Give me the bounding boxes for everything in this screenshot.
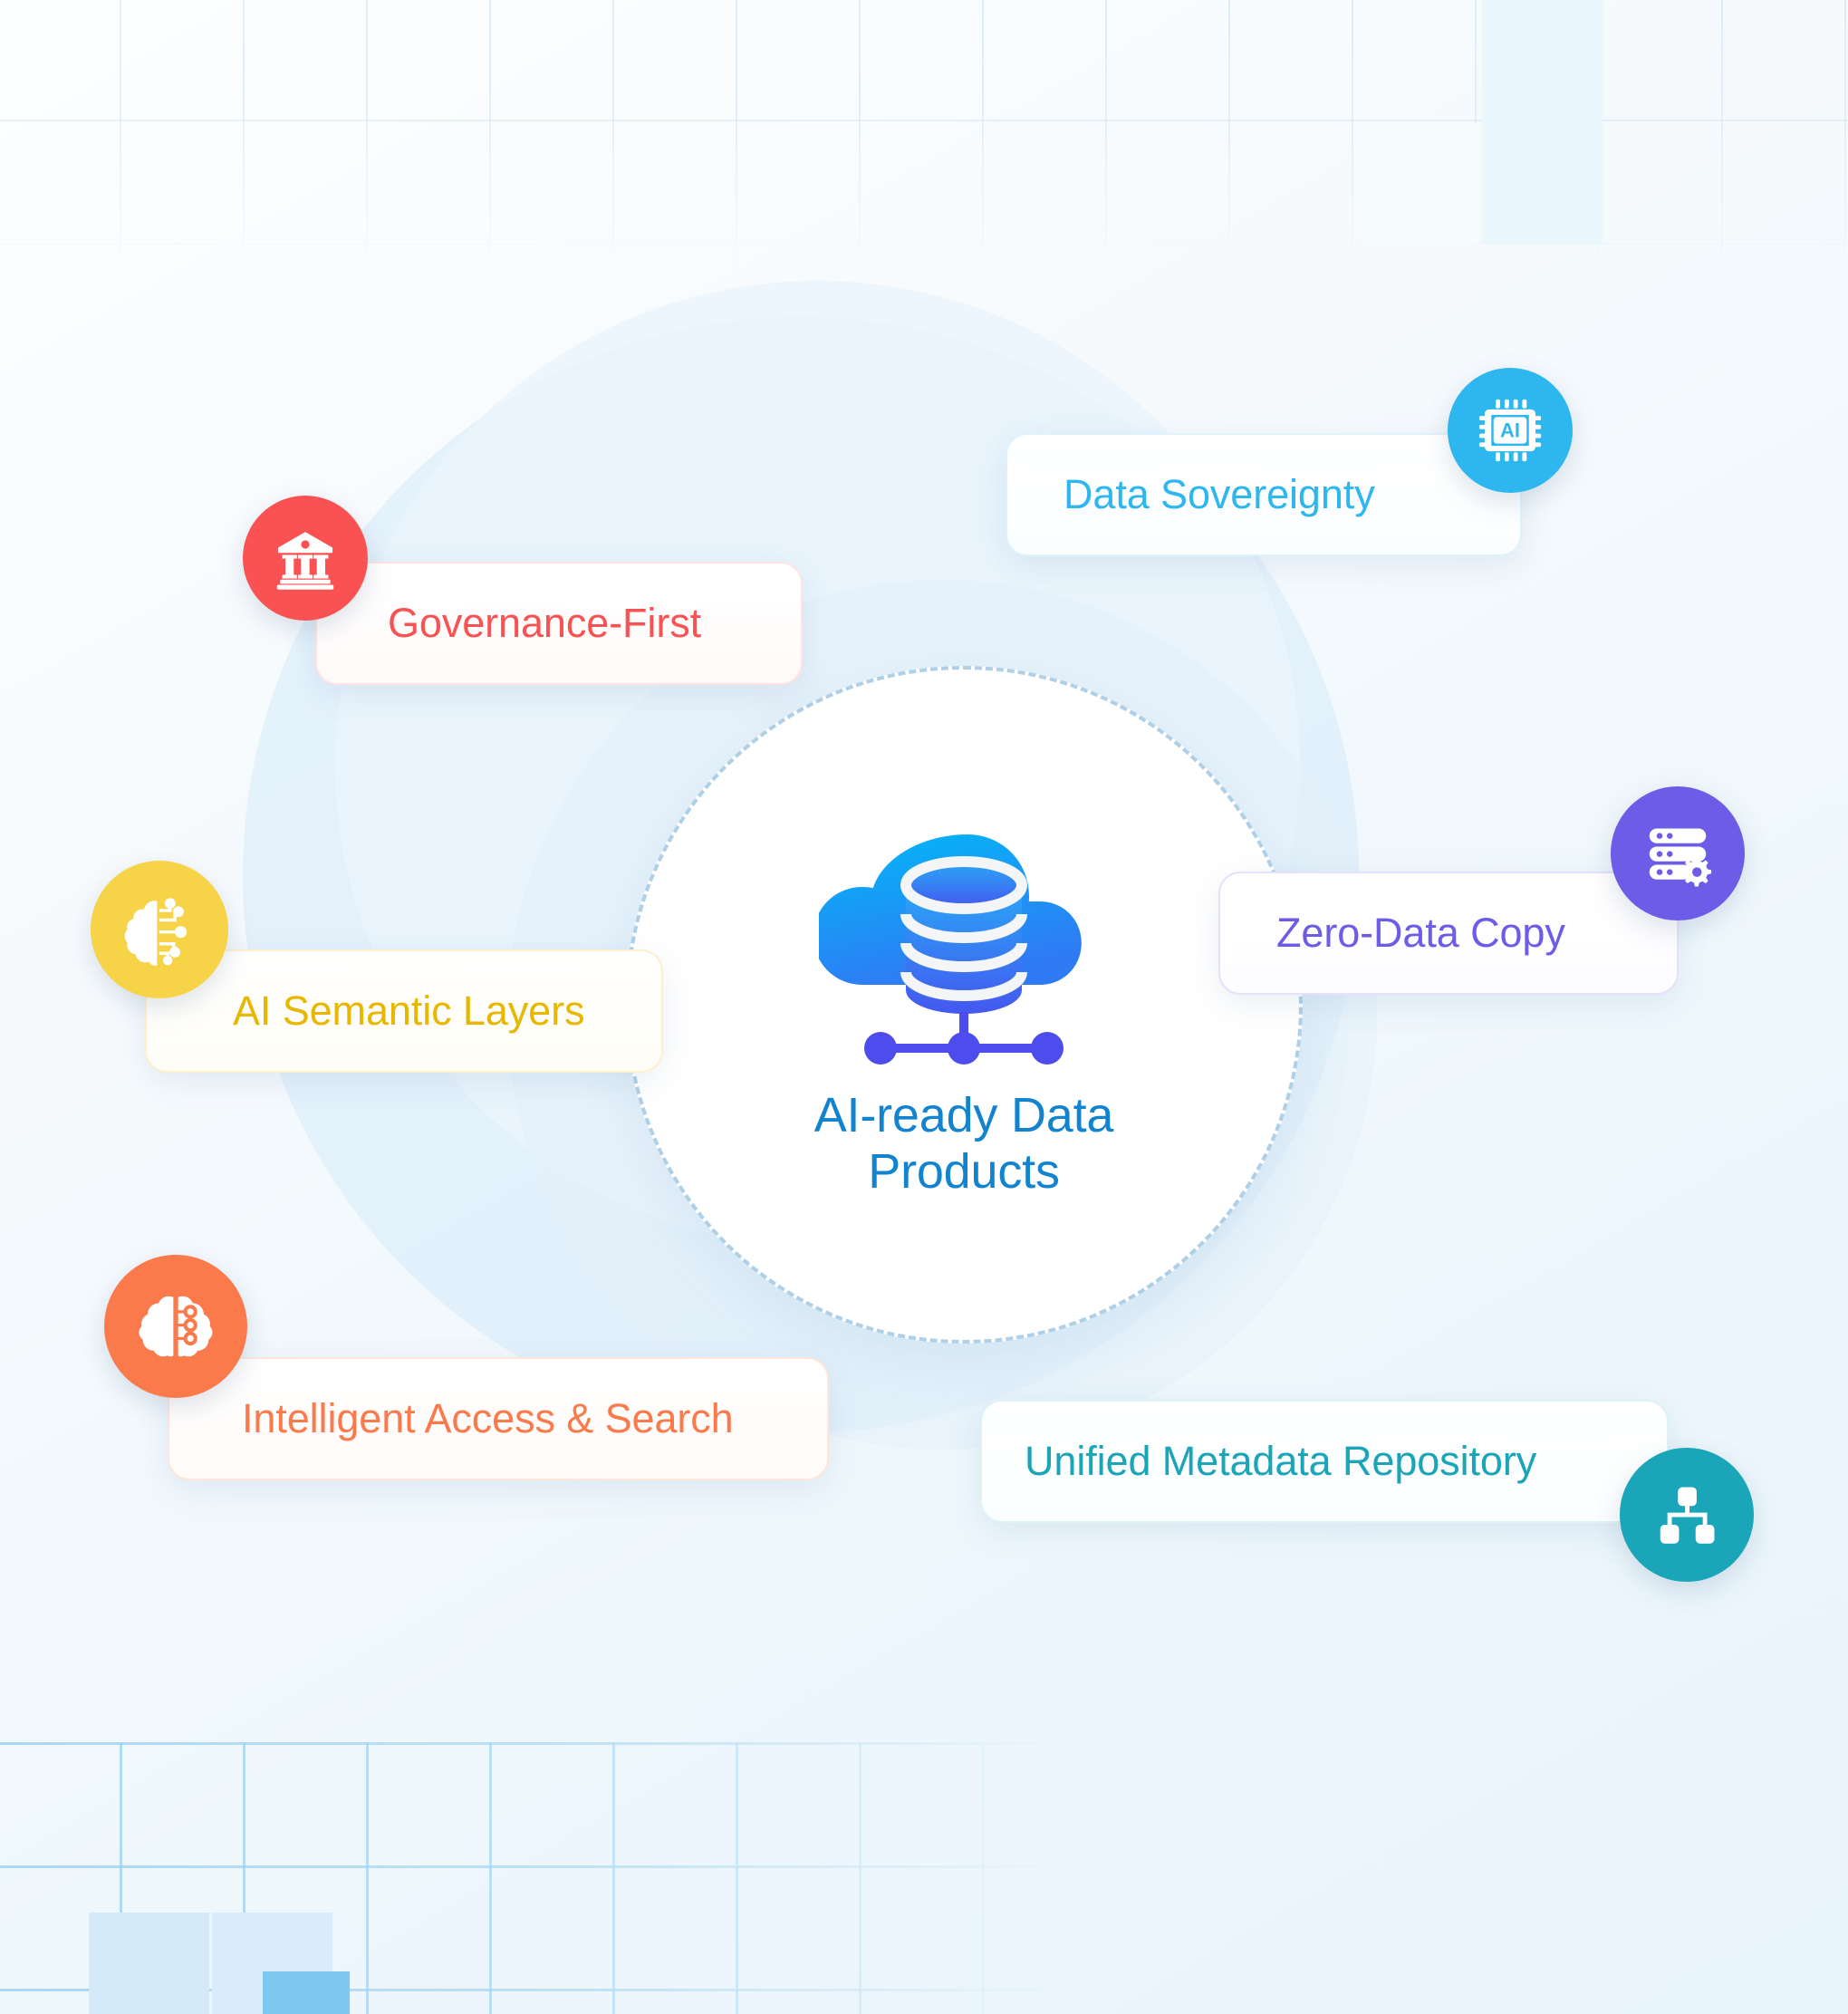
node-zero-data-copy-label: Zero-Data Copy	[1276, 910, 1565, 957]
bank-institution-icon[interactable]	[243, 496, 368, 621]
grid-accent-cell-bottom-left-3	[263, 1971, 350, 2014]
node-data-sovereignty-label: Data Sovereignty	[1064, 471, 1375, 518]
node-intelligent-access-search-label: Intelligent Access & Search	[242, 1395, 734, 1442]
ai-chip-icon[interactable]: AI	[1448, 368, 1573, 493]
grid-accent-cell-bottom-left-1	[89, 1913, 209, 2014]
grid-accent-cell-top-right	[1482, 0, 1603, 245]
node-ai-semantic-layers[interactable]: AI Semantic Layers	[145, 949, 663, 1073]
sitemap-hierarchy-icon[interactable]	[1620, 1448, 1754, 1582]
node-unified-metadata-repository[interactable]: Unified Metadata Repository	[980, 1400, 1669, 1523]
brain-nodes-icon[interactable]	[104, 1255, 247, 1398]
center-node[interactable]: AI-ready Data Products	[625, 666, 1303, 1344]
node-governance-first-label: Governance-First	[388, 600, 701, 647]
grid-accent-cell-top-right-2	[1359, 123, 1479, 244]
brain-circuit-icon[interactable]	[91, 861, 228, 998]
node-ai-semantic-layers-label: AI Semantic Layers	[233, 988, 584, 1035]
node-data-sovereignty[interactable]: Data Sovereignty	[1006, 433, 1522, 556]
cloud-database-network-icon	[819, 809, 1109, 1081]
node-intelligent-access-search[interactable]: Intelligent Access & Search	[168, 1357, 829, 1480]
node-zero-data-copy[interactable]: Zero-Data Copy	[1218, 872, 1679, 995]
server-gear-icon[interactable]	[1611, 786, 1745, 920]
diagram-canvas: AI-ready Data Products Governance-First	[0, 0, 1848, 2014]
svg-text:AI: AI	[1500, 419, 1520, 441]
node-unified-metadata-repository-label: Unified Metadata Repository	[1025, 1438, 1536, 1485]
center-node-label: AI-ready Data Products	[765, 1088, 1163, 1200]
node-governance-first[interactable]: Governance-First	[315, 562, 803, 685]
